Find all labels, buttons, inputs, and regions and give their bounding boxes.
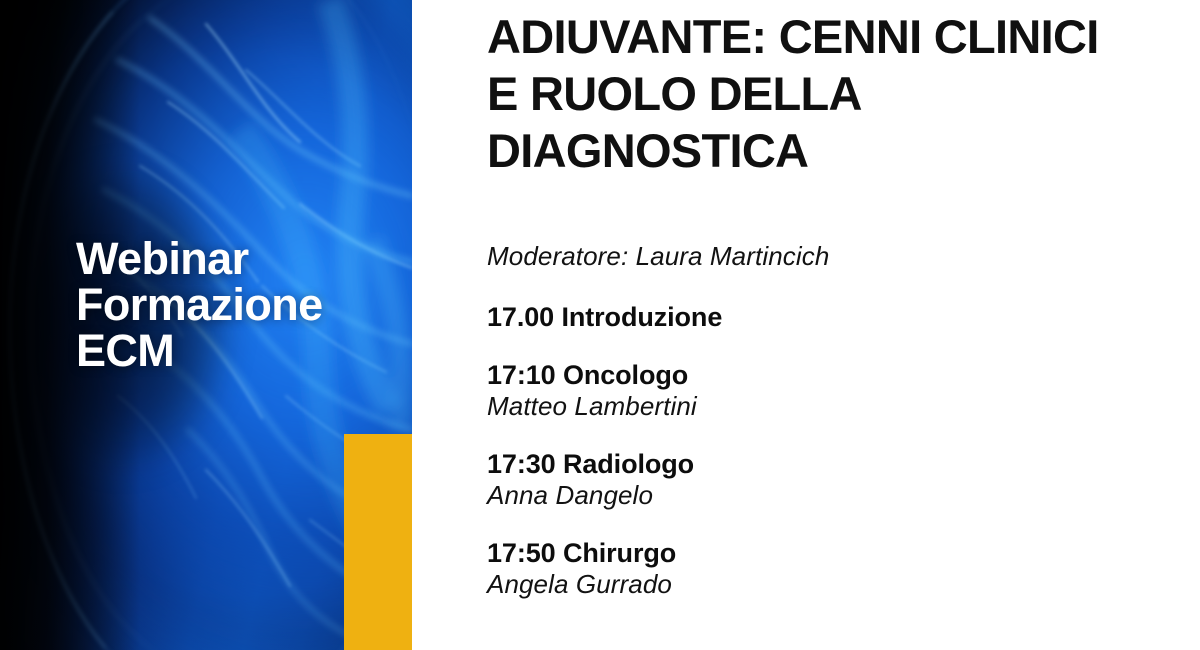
session-speaker: Anna Dangelo bbox=[487, 480, 1147, 511]
session-speaker: Matteo Lambertini bbox=[487, 391, 1147, 422]
session-time-role: 17.00 Introduzione bbox=[487, 301, 1147, 333]
webinar-headline-line-2: Formazione bbox=[76, 282, 406, 328]
webinar-headline-line-3: ECM bbox=[76, 328, 406, 374]
moderator-line: Moderatore: Laura Martincich bbox=[487, 241, 1147, 271]
session-speaker: Angela Gurrado bbox=[487, 569, 1147, 600]
session-item: 17.00 Introduzione bbox=[487, 301, 1147, 333]
date-badge-rotated-wrapper: IO 17:00 bbox=[344, 582, 412, 650]
webinar-headline-line-1: Webinar bbox=[76, 236, 406, 282]
session-item: 17:10 Oncologo Matteo Lambertini bbox=[487, 359, 1147, 422]
webinar-poster: Webinar Formazione ECM IO 17:00 ADIUVANT… bbox=[0, 0, 1200, 650]
content-column: ADIUVANTE: CENNI CLINICI E RUOLO DELLA D… bbox=[487, 0, 1147, 650]
session-time-role: 17:10 Oncologo bbox=[487, 359, 1147, 391]
session-item: 17:30 Radiologo Anna Dangelo bbox=[487, 448, 1147, 511]
date-badge: IO 17:00 bbox=[344, 434, 412, 650]
session-time-role: 17:30 Radiologo bbox=[487, 448, 1147, 480]
program-list: Moderatore: Laura Martincich 17.00 Intro… bbox=[487, 241, 1147, 600]
session-time-role: 17:50 Chirurgo bbox=[487, 537, 1147, 569]
webinar-headline: Webinar Formazione ECM bbox=[76, 236, 406, 374]
page-title: ADIUVANTE: CENNI CLINICI E RUOLO DELLA D… bbox=[487, 0, 1127, 179]
session-item: 17:50 Chirurgo Angela Gurrado bbox=[487, 537, 1147, 600]
mammogram-image-panel: Webinar Formazione ECM IO 17:00 bbox=[0, 0, 412, 650]
